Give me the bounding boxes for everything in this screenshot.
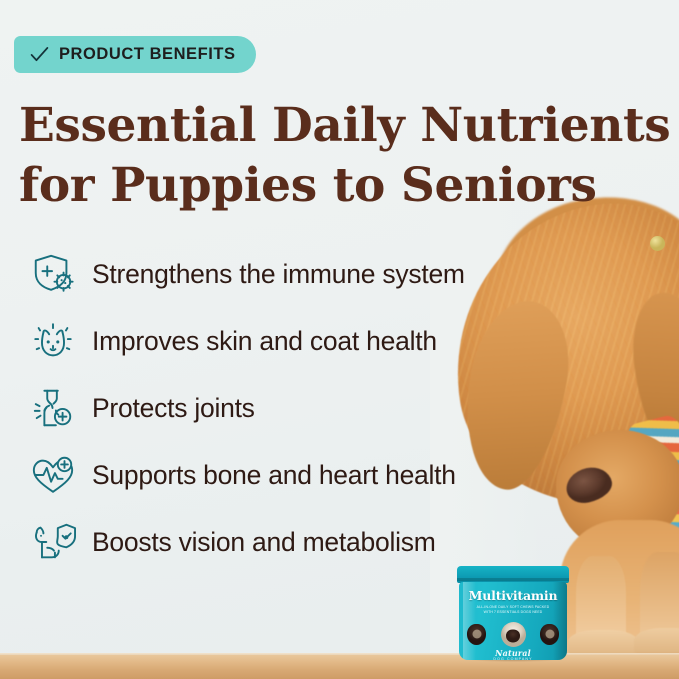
product-jar: Multivitamin ALL-IN-ONE DAILY SOFT CHEWS…: [457, 566, 569, 662]
heart-pulse-plus-icon: [30, 452, 76, 498]
jar-medallions: [467, 622, 559, 647]
benefit-text: Improves skin and coat health: [92, 326, 437, 356]
product-benefits-graphic: PRODUCT BENEFITS Essential Daily Nutrien…: [0, 0, 679, 679]
medallion-left: [467, 624, 486, 645]
benefit-item: Improves skin and coat health: [30, 317, 500, 365]
benefit-text: Strengthens the immune system: [92, 259, 465, 289]
headline-line-2: for Puppies to Seniors: [19, 156, 669, 216]
benefit-text: Protects joints: [92, 393, 255, 423]
shield-plus-germ-icon: [30, 251, 76, 297]
benefit-item: Boosts vision and metabolism: [30, 518, 500, 566]
check-icon: [29, 44, 50, 65]
medallion-right: [540, 624, 559, 645]
benefit-text: Supports bone and heart health: [92, 460, 456, 490]
dog-face-sparkle-icon: [30, 318, 76, 364]
headline-line-1: Essential Daily Nutrients: [19, 96, 669, 156]
dog-collar-tag: [650, 236, 665, 251]
brand-dog-logo: [501, 622, 526, 647]
benefits-list: Strengthens the immune system Improves s…: [30, 250, 500, 585]
badge-label: PRODUCT BENEFITS: [59, 45, 236, 64]
dog-shield-check-icon: [30, 519, 76, 565]
benefit-text: Boosts vision and metabolism: [92, 527, 436, 557]
product-subtitle: ALL-IN-ONE DAILY SOFT CHEWS PACKED WITH …: [473, 605, 553, 614]
benefit-item: Supports bone and heart health: [30, 451, 500, 499]
benefit-item: Protects joints: [30, 384, 500, 432]
product-benefits-badge: PRODUCT BENEFITS: [14, 36, 256, 73]
jar-lid: [457, 566, 569, 583]
joint-bone-plus-icon: [30, 385, 76, 431]
jar-body: Multivitamin ALL-IN-ONE DAILY SOFT CHEWS…: [459, 582, 567, 660]
benefit-item: Strengthens the immune system: [30, 250, 500, 298]
page-title: Essential Daily Nutrients for Puppies to…: [19, 96, 669, 216]
product-title: Multivitamin: [459, 588, 567, 603]
brand-subtitle: DOG COMPANY: [459, 657, 567, 660]
wooden-table-surface: [0, 655, 679, 679]
